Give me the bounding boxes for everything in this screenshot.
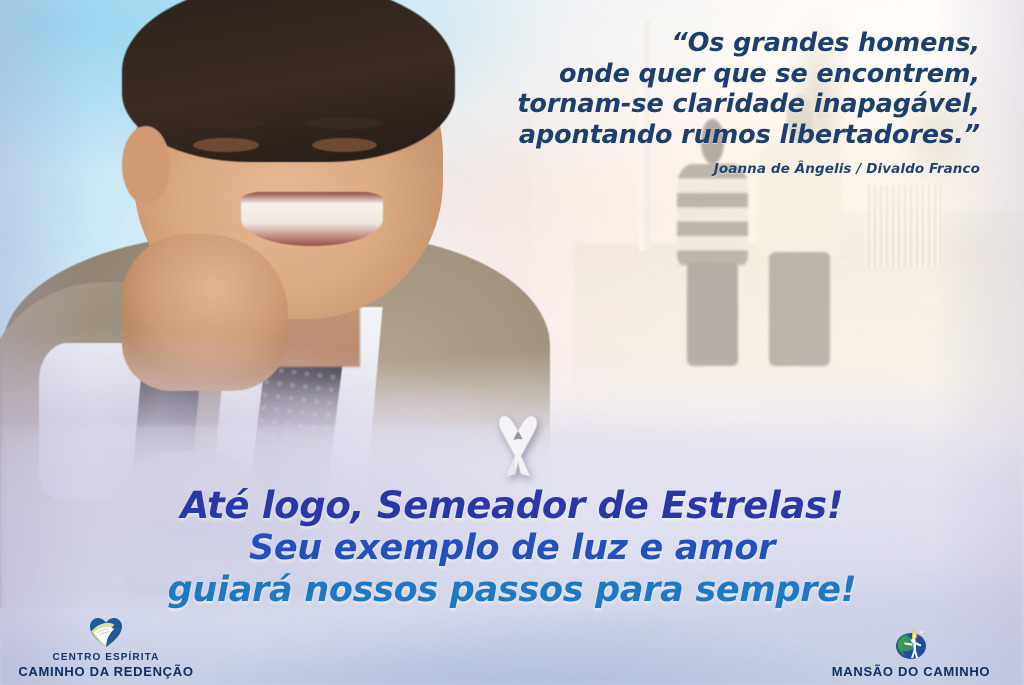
logo-left-text: CENTRO ESPÍRITA CAMINHO DA REDENÇÃO — [8, 652, 204, 679]
logo-right-main-line: MANSÃO DO CAMINHO — [806, 664, 1016, 679]
message-line-2: Seu exemplo de luz e amor — [0, 531, 1024, 566]
logo-mansao-do-caminho: MANSÃO DO CAMINHO — [806, 626, 1016, 679]
quote-line-1: “Os grandes homens, — [420, 28, 980, 59]
message-line-3: guiará nossos passos para sempre! — [0, 573, 1024, 608]
heart-hands-icon — [8, 614, 204, 650]
memorial-poster: “Os grandes homens, onde quer que se enc… — [0, 0, 1024, 685]
logo-left-main-line: CAMINHO DA REDENÇÃO — [8, 664, 204, 679]
quote-block: “Os grandes homens, onde quer que se enc… — [420, 28, 980, 177]
quote-line-3: tornam-se claridade inapagável, — [420, 89, 980, 120]
logo-right-text: MANSÃO DO CAMINHO — [806, 664, 1016, 679]
logo-centro-espirita: CENTRO ESPÍRITA CAMINHO DA REDENÇÃO — [8, 614, 204, 679]
memorial-ribbon-icon — [493, 412, 543, 480]
logo-left-top-line: CENTRO ESPÍRITA — [8, 652, 204, 664]
quote-attribution: Joanna de Ângelis / Divaldo Franco — [420, 161, 980, 177]
message-line-1: Até logo, Semeador de Estrelas! — [0, 487, 1024, 524]
quote-line-2: onde quer que se encontrem, — [420, 59, 980, 90]
farewell-message: Até logo, Semeador de Estrelas! Seu exem… — [0, 487, 1024, 608]
globe-figure-icon — [806, 626, 1016, 662]
quote-line-4: apontando rumos libertadores.” — [420, 120, 980, 151]
